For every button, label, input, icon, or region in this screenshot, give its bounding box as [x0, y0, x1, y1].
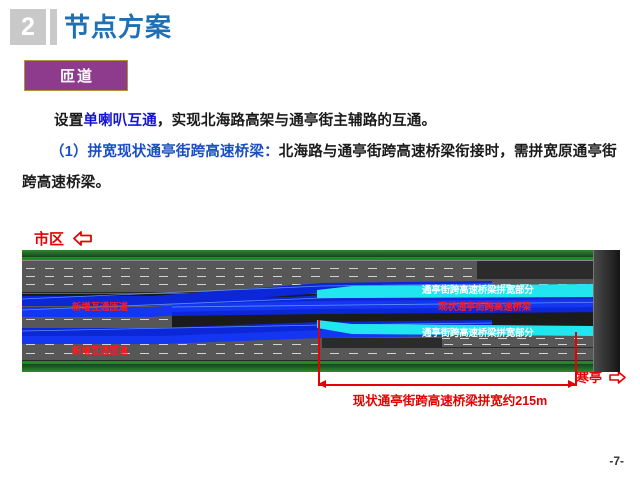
widen-label-lower: 通亭街跨高速桥梁拼宽部分 — [422, 328, 534, 339]
direction-label-city: 市区 — [34, 228, 92, 250]
dimension-tick-left — [318, 320, 320, 386]
road-rendering-figure: 市区 寒亭 — [0, 222, 640, 422]
paragraph-1-highlight: 单喇叭互通 — [83, 113, 157, 129]
paragraph-2: （1）拼宽现状通亭街跨高速桥梁：北海路与通亭街跨高速桥梁衔接时，需拼宽原通亭街跨… — [22, 137, 622, 199]
section-number-badge: 2 — [10, 9, 46, 45]
dimension-arrow-right-icon — [568, 380, 576, 388]
direction-label-city-text: 市区 — [34, 231, 64, 248]
arrow-right-icon — [609, 371, 626, 387]
body-text-block: 设置单喇叭互通，实现北海路高架与通亭街主辅路的互通。 （1）拼宽现状通亭街跨高速… — [22, 106, 622, 199]
paragraph-1-tail: ，实现北海路高架与通亭街主辅路的互通。 — [157, 113, 436, 129]
dimension-arrow-left-icon — [318, 380, 326, 388]
paragraph-1-lead: 设置 — [54, 113, 83, 129]
ramp-label-upper: 新增互通匝道 — [72, 302, 128, 313]
paragraph-1: 设置单喇叭互通，实现北海路高架与通亭街主辅路的互通。 — [22, 106, 622, 137]
bridge-abutment-wall — [593, 250, 620, 372]
arrow-left-icon — [73, 231, 92, 250]
road-render-canvas: 新增互通匝道 新增互通匝道 通亭街跨高速桥梁拼宽部分 现状通亭街跨高速桥梁 通亭… — [22, 250, 620, 372]
ramp-label-lower: 新增互通匝道 — [72, 346, 128, 357]
paragraph-2-marker: （1）拼宽现状通亭街跨高速桥梁： — [50, 144, 279, 160]
existing-bridge-label: 现状通亭街跨高速桥梁 — [438, 302, 531, 313]
dimension-label: 现状通亭街跨高速桥梁拼宽约215m — [330, 390, 570, 409]
header-accent-bar — [50, 9, 57, 45]
dimension-tick-right — [575, 332, 577, 386]
widen-label-upper: 通亭街跨高速桥梁拼宽部分 — [422, 285, 534, 296]
subsection-tag-label: 匝道 — [25, 61, 129, 92]
direction-label-hanting-text: 寒亭 — [576, 370, 602, 385]
page-title: 节点方案 — [64, 10, 172, 44]
subsection-tag: 匝道 — [24, 60, 128, 91]
slide-header: 2 节点方案 — [0, 0, 640, 56]
dimension-line — [318, 384, 576, 386]
page-number: -7- — [609, 454, 624, 468]
